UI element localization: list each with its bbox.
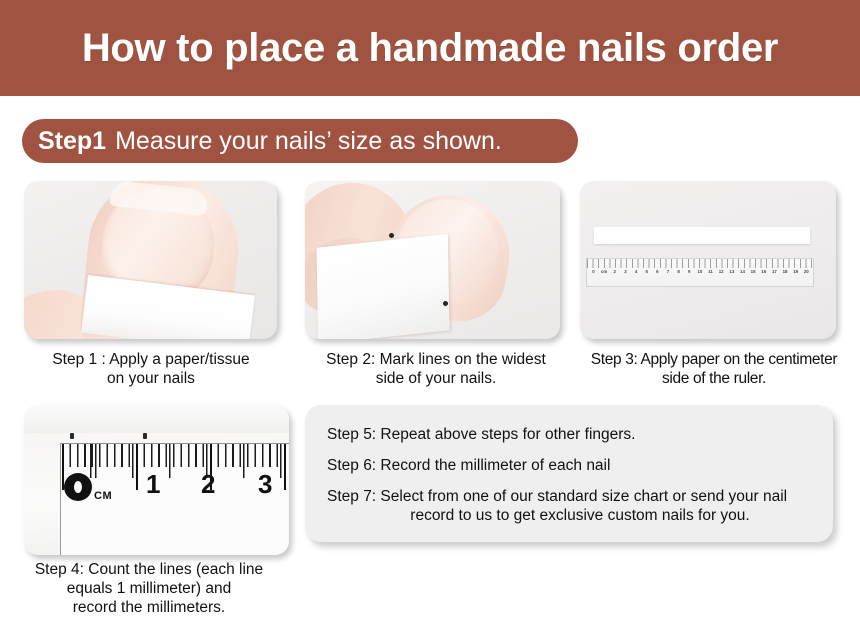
ruler-unit-label: CM xyxy=(94,490,112,502)
ruler-number: 3 xyxy=(621,269,630,274)
ruler-number: 9 xyxy=(685,269,694,274)
paper-strip-shape xyxy=(317,234,450,339)
ruler-number: 10 xyxy=(695,269,704,274)
pencil-mark-icon xyxy=(143,433,147,439)
caption-line: Step 3: Apply paper on the centimeter xyxy=(573,350,855,369)
pencil-mark-icon xyxy=(389,233,394,238)
ruler-number: 14 xyxy=(738,269,747,274)
ruler-number: 18 xyxy=(781,269,790,274)
ruler-number: 11 xyxy=(706,269,715,274)
step1-label: Step1 xyxy=(38,127,106,156)
caption-line: Step 2: Mark lines on the widest xyxy=(296,350,576,369)
photo-card-step2 xyxy=(305,181,560,339)
ruler-unit-label: cm xyxy=(600,269,609,274)
ruler-number: 1 xyxy=(146,469,160,500)
caption-line: on your nails xyxy=(10,369,292,388)
steps-5-7-panel: Step 5: Repeat above steps for other fin… xyxy=(305,405,833,542)
ruler-zero-marker xyxy=(64,473,92,501)
zero-digit-hole xyxy=(74,481,82,493)
ruler-centimeter-ticks xyxy=(62,444,289,490)
header-banner: How to place a handmade nails order xyxy=(0,0,860,96)
ruler-shape: 0 cm 2 3 4 5 6 7 8 9 10 11 12 13 14 15 1… xyxy=(586,258,814,287)
photo-finger-paper xyxy=(24,181,277,339)
ruler-number: 20 xyxy=(802,269,811,274)
photo-card-step3: 0 cm 2 3 4 5 6 7 8 9 10 11 12 13 14 15 1… xyxy=(580,181,836,339)
caption-line: Step 4: Count the lines (each line xyxy=(10,560,288,579)
caption-line: Step 1 : Apply a paper/tissue xyxy=(10,350,292,369)
caption-line: side of the ruler. xyxy=(573,369,855,388)
photo-marked-paper xyxy=(305,181,560,339)
step5-text: Step 5: Repeat above steps for other fin… xyxy=(327,425,811,444)
ruler-number: 0 xyxy=(589,269,598,274)
step7-line2: record to us to get exclusive custom nai… xyxy=(327,506,811,525)
ruler-number: 19 xyxy=(791,269,800,274)
step6-text: Step 6: Record the millimeter of each na… xyxy=(327,456,811,475)
step1-description: Measure your nails’ size as shown. xyxy=(115,127,502,156)
step7-text: Step 7: Select from one of our standard … xyxy=(327,487,811,525)
paper-strip-shape xyxy=(24,405,289,433)
ruler-number: 5 xyxy=(642,269,651,274)
photo-ruler-closeup: CM 1 2 3 xyxy=(24,405,289,555)
step7-line1: Step 7: Select from one of our standard … xyxy=(327,488,787,505)
caption-line: record the millimeters. xyxy=(10,598,288,617)
caption-step3: Step 3: Apply paper on the centimeter si… xyxy=(573,350,855,388)
caption-step4: Step 4: Count the lines (each line equal… xyxy=(10,560,288,617)
page-title: How to place a handmade nails order xyxy=(82,26,778,71)
ruler-number: 17 xyxy=(770,269,779,274)
pencil-mark-icon xyxy=(443,301,448,306)
ruler-number: 2 xyxy=(201,469,215,500)
caption-step1: Step 1 : Apply a paper/tissue on your na… xyxy=(10,350,292,388)
caption-line: equals 1 millimeter) and xyxy=(10,579,288,598)
step1-banner: Step1 Measure your nails’ size as shown. xyxy=(22,119,578,163)
pencil-mark-icon xyxy=(70,433,74,439)
paper-strip-shape xyxy=(594,227,810,244)
ruler-tick-marks xyxy=(587,259,813,268)
ruler-number: 2 xyxy=(610,269,619,274)
photo-card-step1 xyxy=(24,181,277,339)
ruler-number-row: 0 cm 2 3 4 5 6 7 8 9 10 11 12 13 14 15 1… xyxy=(587,269,813,274)
ruler-number: 7 xyxy=(663,269,672,274)
ruler-number: 13 xyxy=(727,269,736,274)
photo-card-step4: CM 1 2 3 xyxy=(24,405,289,555)
caption-step2: Step 2: Mark lines on the widest side of… xyxy=(296,350,576,388)
photo-ruler-paper: 0 cm 2 3 4 5 6 7 8 9 10 11 12 13 14 15 1… xyxy=(580,181,836,339)
ruler-number: 6 xyxy=(653,269,662,274)
ruler-number: 15 xyxy=(749,269,758,274)
ruler-number: 3 xyxy=(258,469,272,500)
ruler-number: 12 xyxy=(717,269,726,274)
ruler-number: 8 xyxy=(674,269,683,274)
ruler-number: 4 xyxy=(632,269,641,274)
ruler-number: 16 xyxy=(759,269,768,274)
caption-line: side of your nails. xyxy=(296,369,576,388)
